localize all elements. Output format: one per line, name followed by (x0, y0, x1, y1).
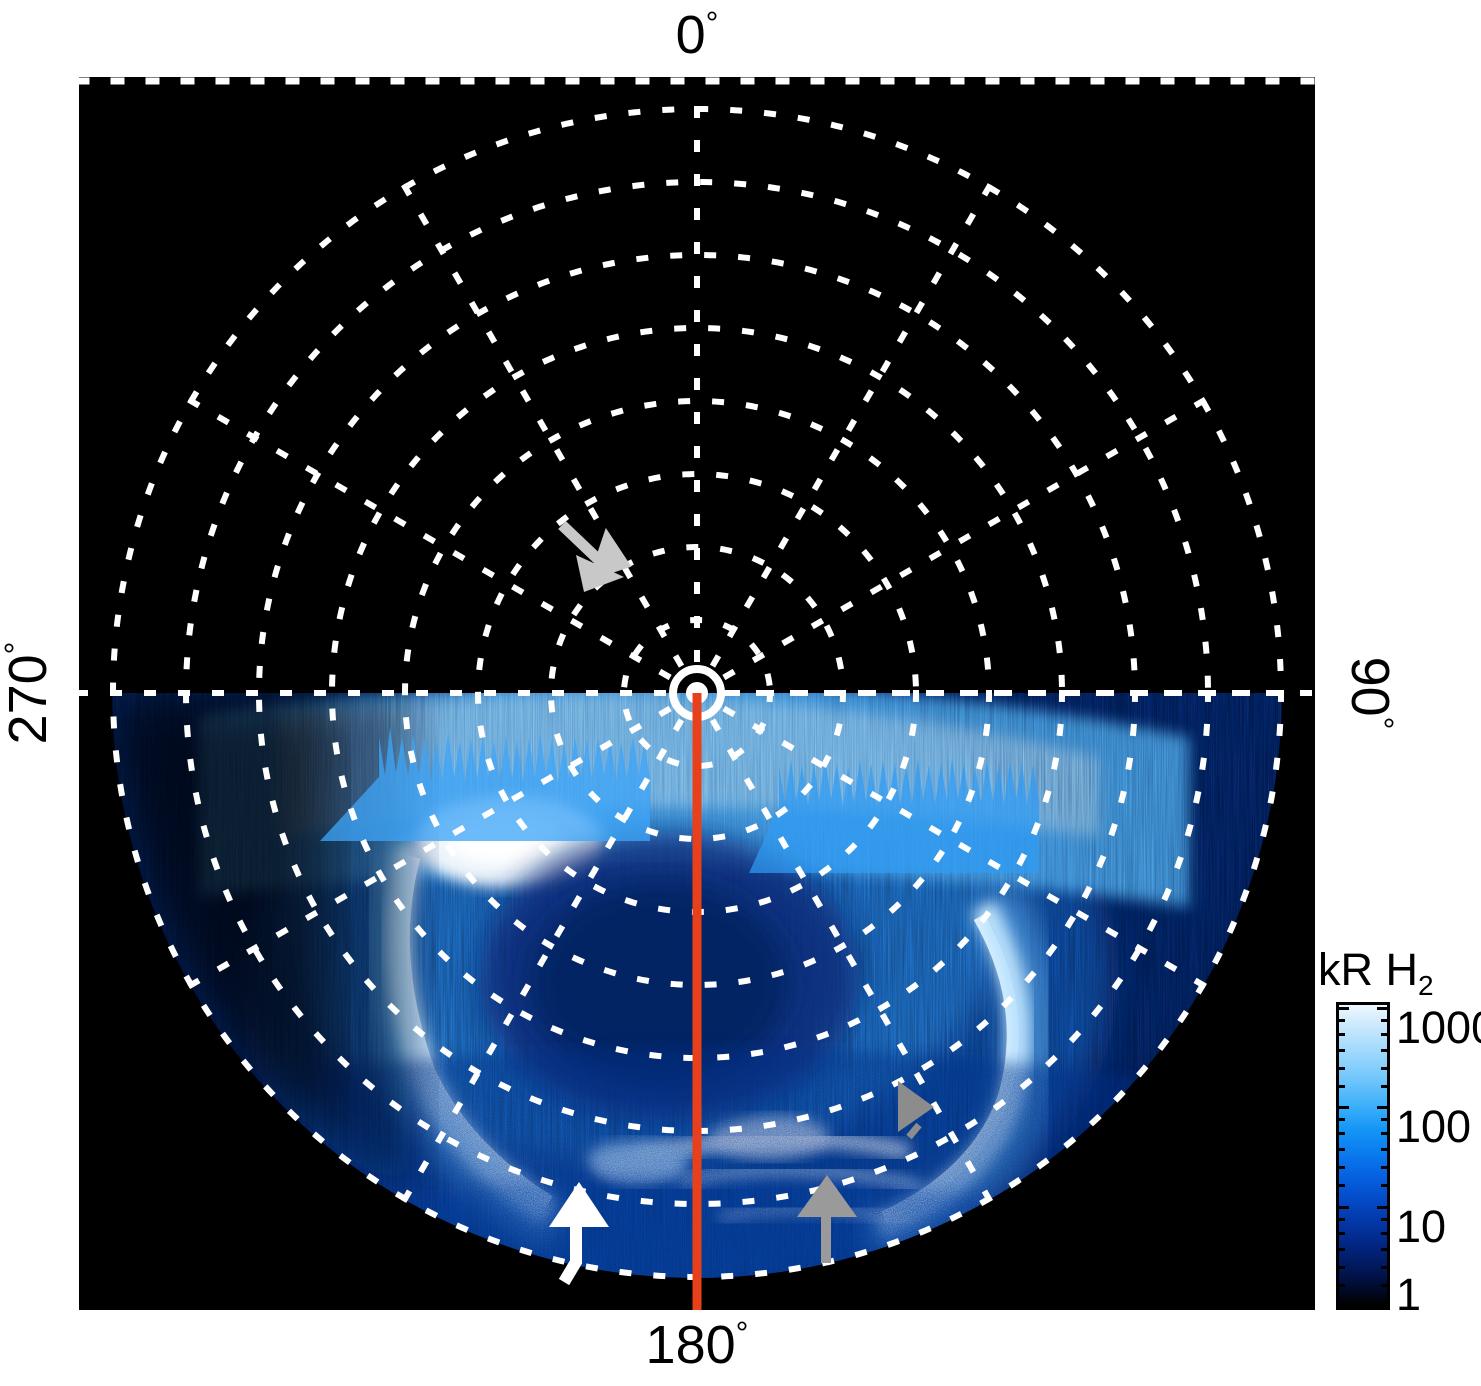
colorbar-label-100: 100 (1396, 1104, 1471, 1149)
colorbar-label-1: 1 (1396, 1272, 1421, 1317)
polar-plot-panel (79, 77, 1315, 1310)
angle-label-270: 270° (1, 613, 55, 773)
angle-label-90: 90° (1343, 613, 1397, 773)
figure-root: 0° 180° 270° 90° (0, 0, 1481, 1386)
colorbar-label-10: 10 (1396, 1204, 1446, 1249)
colorbar-ticks-left (1339, 1005, 1349, 1307)
angle-label-180: 180° (0, 1318, 1394, 1372)
colorbar-ticks-right (1377, 1005, 1387, 1307)
colorbar-label-1000: 1000 (1396, 1005, 1481, 1050)
colorbar-title: kR H2 (1318, 944, 1434, 996)
angle-label-0: 0° (0, 8, 1394, 62)
colorbar (1336, 1002, 1390, 1310)
polar-plot-svg (79, 77, 1315, 1310)
